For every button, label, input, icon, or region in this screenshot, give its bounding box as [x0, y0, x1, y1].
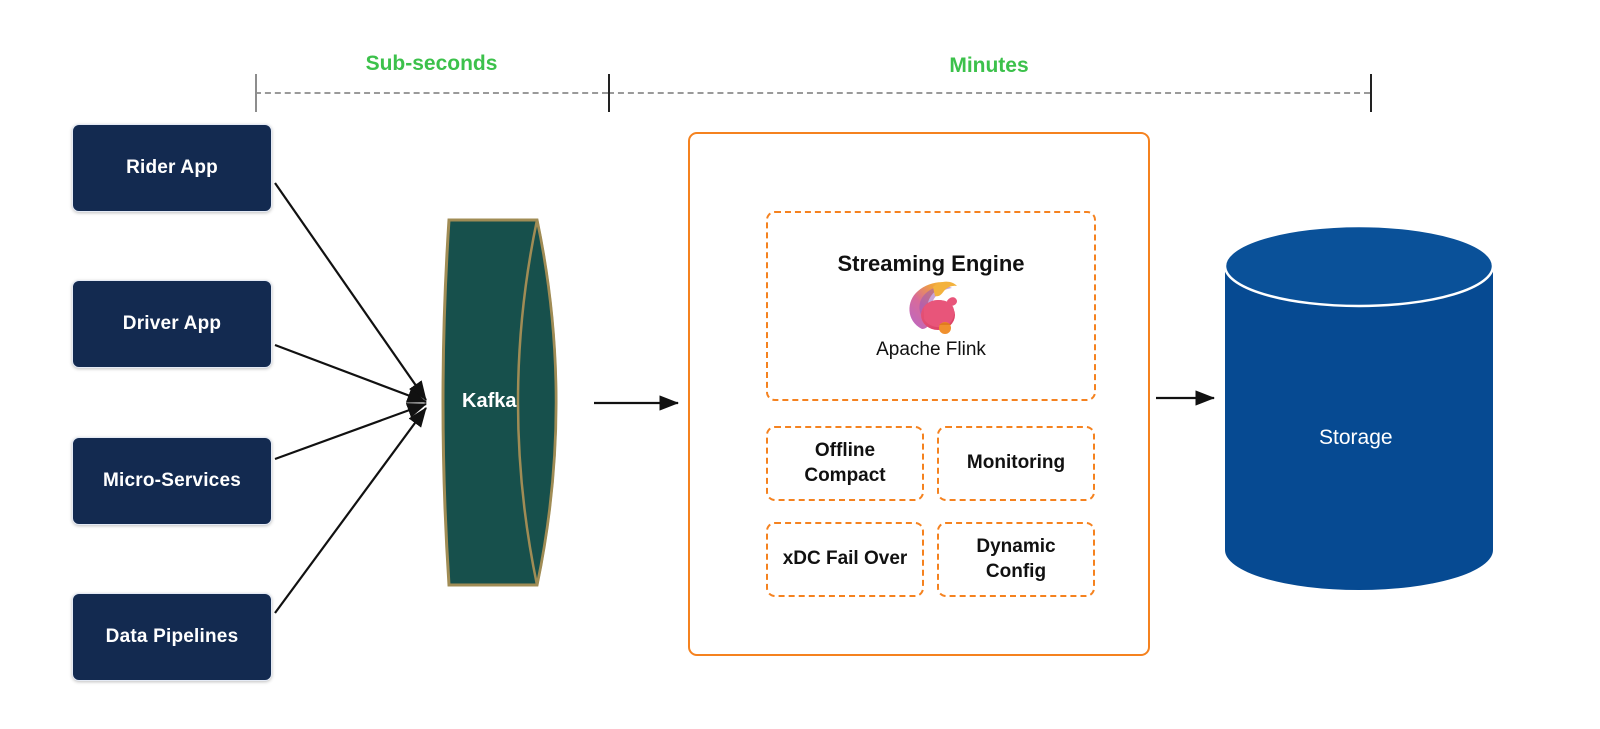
capability-box-label: Monitoring — [967, 451, 1065, 476]
source-box-label: Rider App — [126, 157, 218, 179]
source-box-label: Driver App — [123, 313, 221, 335]
storage-label: Storage — [1319, 426, 1393, 450]
timeline-dashed-line — [255, 92, 608, 94]
capability-box-xdc-fail-over[interactable]: xDC Fail Over — [766, 522, 924, 597]
capability-box-dynamic-config[interactable]: DynamicConfig — [937, 522, 1095, 597]
apache-flink-squirrel-logo — [900, 277, 962, 335]
source-box-label: Micro-Services — [103, 470, 241, 492]
timeline-tick — [255, 74, 257, 112]
arrow-rider-app-to-kafka — [275, 183, 426, 400]
timeline-tick — [608, 74, 610, 112]
capability-box-offline-compact[interactable]: OfflineCompact — [766, 426, 924, 501]
arrow-micro-services-to-kafka — [275, 404, 426, 459]
apache-flink-caption: Apache Flink — [876, 339, 986, 361]
storage-cylinder[interactable] — [1223, 224, 1495, 592]
capability-box-label: Config — [986, 560, 1046, 585]
capability-box-label: Offline — [815, 439, 875, 464]
arrow-driver-app-to-kafka — [275, 345, 426, 402]
capability-box-label: xDC Fail Over — [783, 547, 908, 572]
stream-processing-container: Streaming Engine — [688, 132, 1150, 656]
timeline-label-minutes: Minutes — [608, 54, 1370, 78]
source-box-label: Data Pipelines — [106, 626, 239, 648]
source-box-rider-app[interactable]: Rider App — [72, 124, 272, 212]
architecture-diagram: Sub-secondsMinutes Rider AppDriver AppMi… — [0, 0, 1600, 729]
capability-box-label: Compact — [804, 464, 885, 489]
arrow-data-pipelines-to-kafka — [275, 408, 426, 613]
source-box-data-pipelines[interactable]: Data Pipelines — [72, 593, 272, 681]
storage-cylinder-shape — [1223, 224, 1495, 592]
streaming-engine-title: Streaming Engine — [837, 251, 1024, 276]
kafka-label: Kafka — [462, 390, 516, 413]
source-box-driver-app[interactable]: Driver App — [72, 280, 272, 368]
timeline-dashed-line — [608, 92, 1370, 94]
apache-flink-logo-wrap: Apache Flink — [876, 277, 986, 361]
capability-box-label: Dynamic — [976, 535, 1055, 560]
timeline-label-sub-seconds: Sub-seconds — [255, 52, 608, 76]
streaming-engine-box[interactable]: Streaming Engine — [766, 211, 1096, 401]
timeline-tick — [1370, 74, 1372, 112]
capability-box-monitoring[interactable]: Monitoring — [937, 426, 1095, 501]
source-box-micro-services[interactable]: Micro-Services — [72, 437, 272, 525]
